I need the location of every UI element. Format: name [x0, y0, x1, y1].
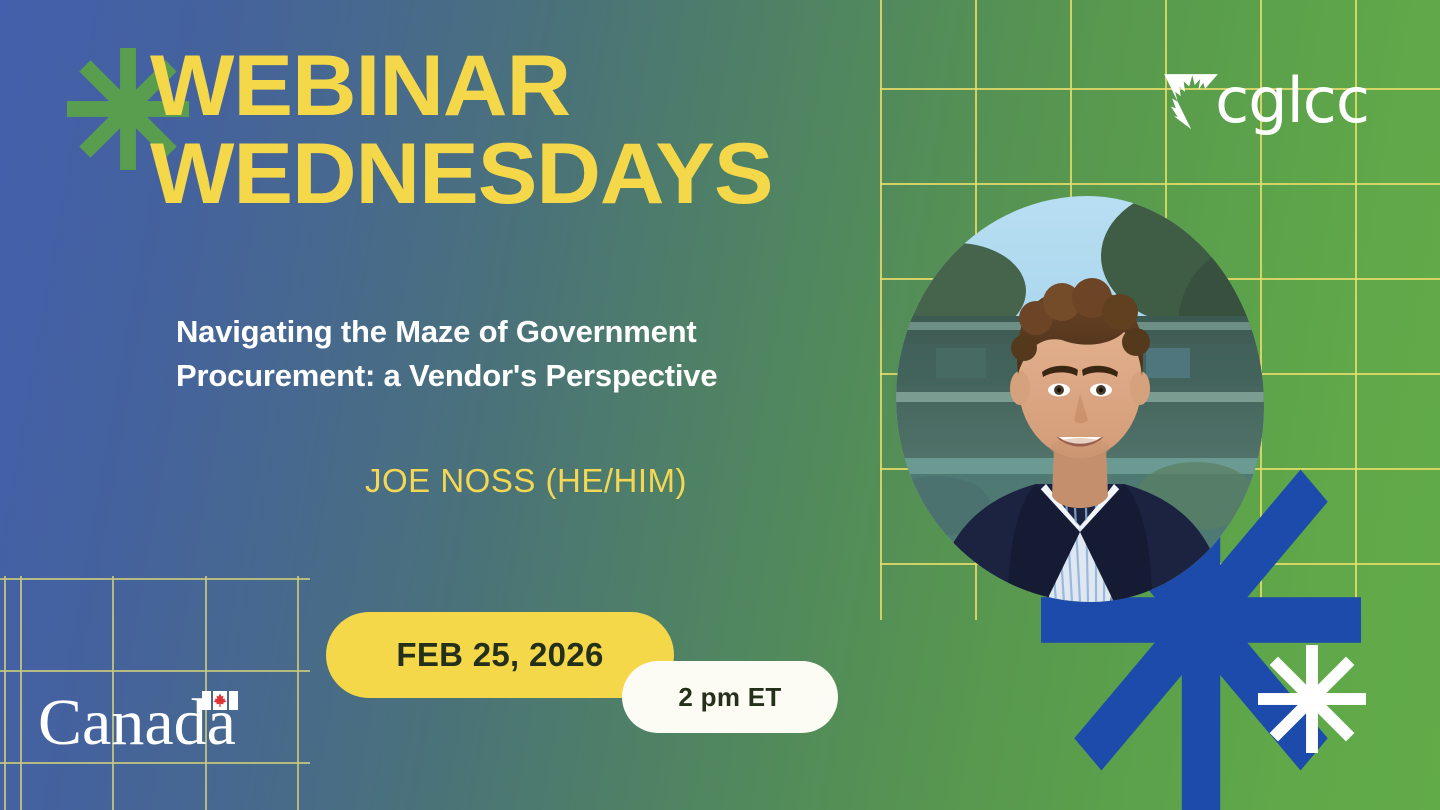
time-badge-label: 2 pm ET	[678, 682, 781, 713]
canadian-flag-icon	[202, 691, 238, 710]
page-title: WEBINAR WEDNESDAYS	[150, 46, 910, 215]
title-line-wednesdays: WEDNESDAYS	[150, 134, 940, 216]
time-badge: 2 pm ET	[622, 661, 838, 733]
webinar-promo-poster: WEBINAR WEDNESDAYS Navigating the Maze o…	[0, 0, 1440, 810]
white-asterisk-icon	[1258, 645, 1366, 753]
cglcc-maple-leaf-triangle-icon	[1163, 53, 1219, 149]
date-badge-label: FEB 25, 2026	[396, 636, 603, 674]
cglcc-wordmark: cglcc	[1215, 70, 1369, 132]
speaker-portrait	[896, 196, 1264, 602]
cglcc-logo: cglcc	[1163, 52, 1369, 150]
speaker-name: JOE NOSS (HE/HIM)	[176, 462, 876, 500]
title-line-webinar: WEBINAR	[150, 46, 940, 128]
session-subtitle: Navigating the Maze of Government Procur…	[176, 310, 896, 398]
white-asterisk-svg	[1258, 645, 1366, 753]
date-badge: FEB 25, 2026	[326, 612, 674, 698]
speaker-portrait-image	[896, 196, 1264, 602]
